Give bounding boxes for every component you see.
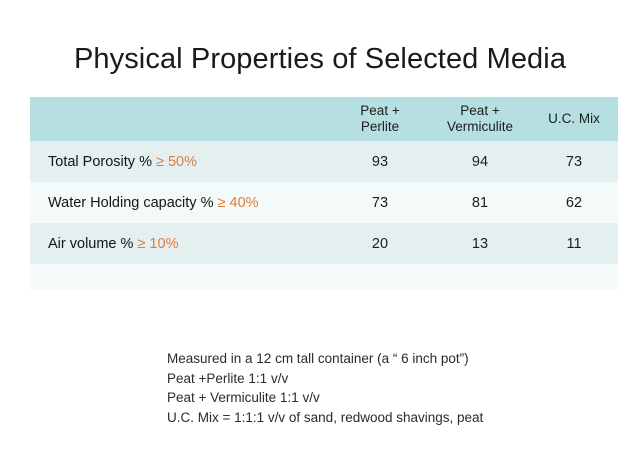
footnote-line: U.C. Mix = 1:1:1 v/v of sand, redwood sh… — [167, 408, 483, 428]
table-row: Air volume % ≥ 10% 20 13 11 — [30, 223, 618, 264]
empty-cell — [330, 264, 430, 290]
header-line-1: Peat + — [460, 103, 499, 118]
page-title: Physical Properties of Selected Media — [0, 41, 640, 77]
physical-properties-table: Peat + Perlite Peat + Vermiculite U.C. M… — [30, 97, 618, 290]
empty-cell — [30, 264, 330, 290]
cell-value: 94 — [430, 141, 530, 182]
header-line-2: Vermiculite — [447, 119, 513, 134]
table-header-row: Peat + Perlite Peat + Vermiculite U.C. M… — [30, 97, 618, 141]
cell-value: 73 — [330, 182, 430, 223]
header-cell-peat-vermiculite: Peat + Vermiculite — [430, 97, 530, 141]
header-line-1: U.C. Mix — [548, 111, 600, 126]
cell-value: 11 — [530, 223, 618, 264]
footnote-block: Measured in a 12 cm tall container (a “ … — [167, 349, 483, 427]
footnote-line: Peat + Vermiculite 1:1 v/v — [167, 388, 483, 408]
cell-value: 62 — [530, 182, 618, 223]
footnote-line: Measured in a 12 cm tall container (a “ … — [167, 349, 483, 369]
header-line-2: Perlite — [361, 119, 399, 134]
cell-value: 81 — [430, 182, 530, 223]
header-line-1: Peat + — [360, 103, 399, 118]
property-threshold: ≥ 40% — [213, 195, 258, 211]
property-threshold: ≥ 50% — [152, 154, 197, 170]
table-row-empty — [30, 264, 618, 290]
property-name: Total Porosity % — [48, 154, 152, 170]
header-cell-blank — [30, 97, 330, 141]
row-label-water-holding-capacity: Water Holding capacity % ≥ 40% — [30, 182, 330, 223]
header-cell-peat-perlite: Peat + Perlite — [330, 97, 430, 141]
cell-value: 93 — [330, 141, 430, 182]
footnote-line: Peat +Perlite 1:1 v/v — [167, 369, 483, 389]
cell-value: 13 — [430, 223, 530, 264]
header-cell-uc-mix: U.C. Mix — [530, 97, 618, 141]
row-label-total-porosity: Total Porosity % ≥ 50% — [30, 141, 330, 182]
cell-value: 20 — [330, 223, 430, 264]
table-row: Total Porosity % ≥ 50% 93 94 73 — [30, 141, 618, 182]
property-name: Water Holding capacity % — [48, 195, 213, 211]
row-label-air-volume: Air volume % ≥ 10% — [30, 223, 330, 264]
cell-value: 73 — [530, 141, 618, 182]
property-name: Air volume % — [48, 236, 133, 252]
property-threshold: ≥ 10% — [133, 236, 178, 252]
empty-cell — [430, 264, 530, 290]
table-row: Water Holding capacity % ≥ 40% 73 81 62 — [30, 182, 618, 223]
empty-cell — [530, 264, 618, 290]
